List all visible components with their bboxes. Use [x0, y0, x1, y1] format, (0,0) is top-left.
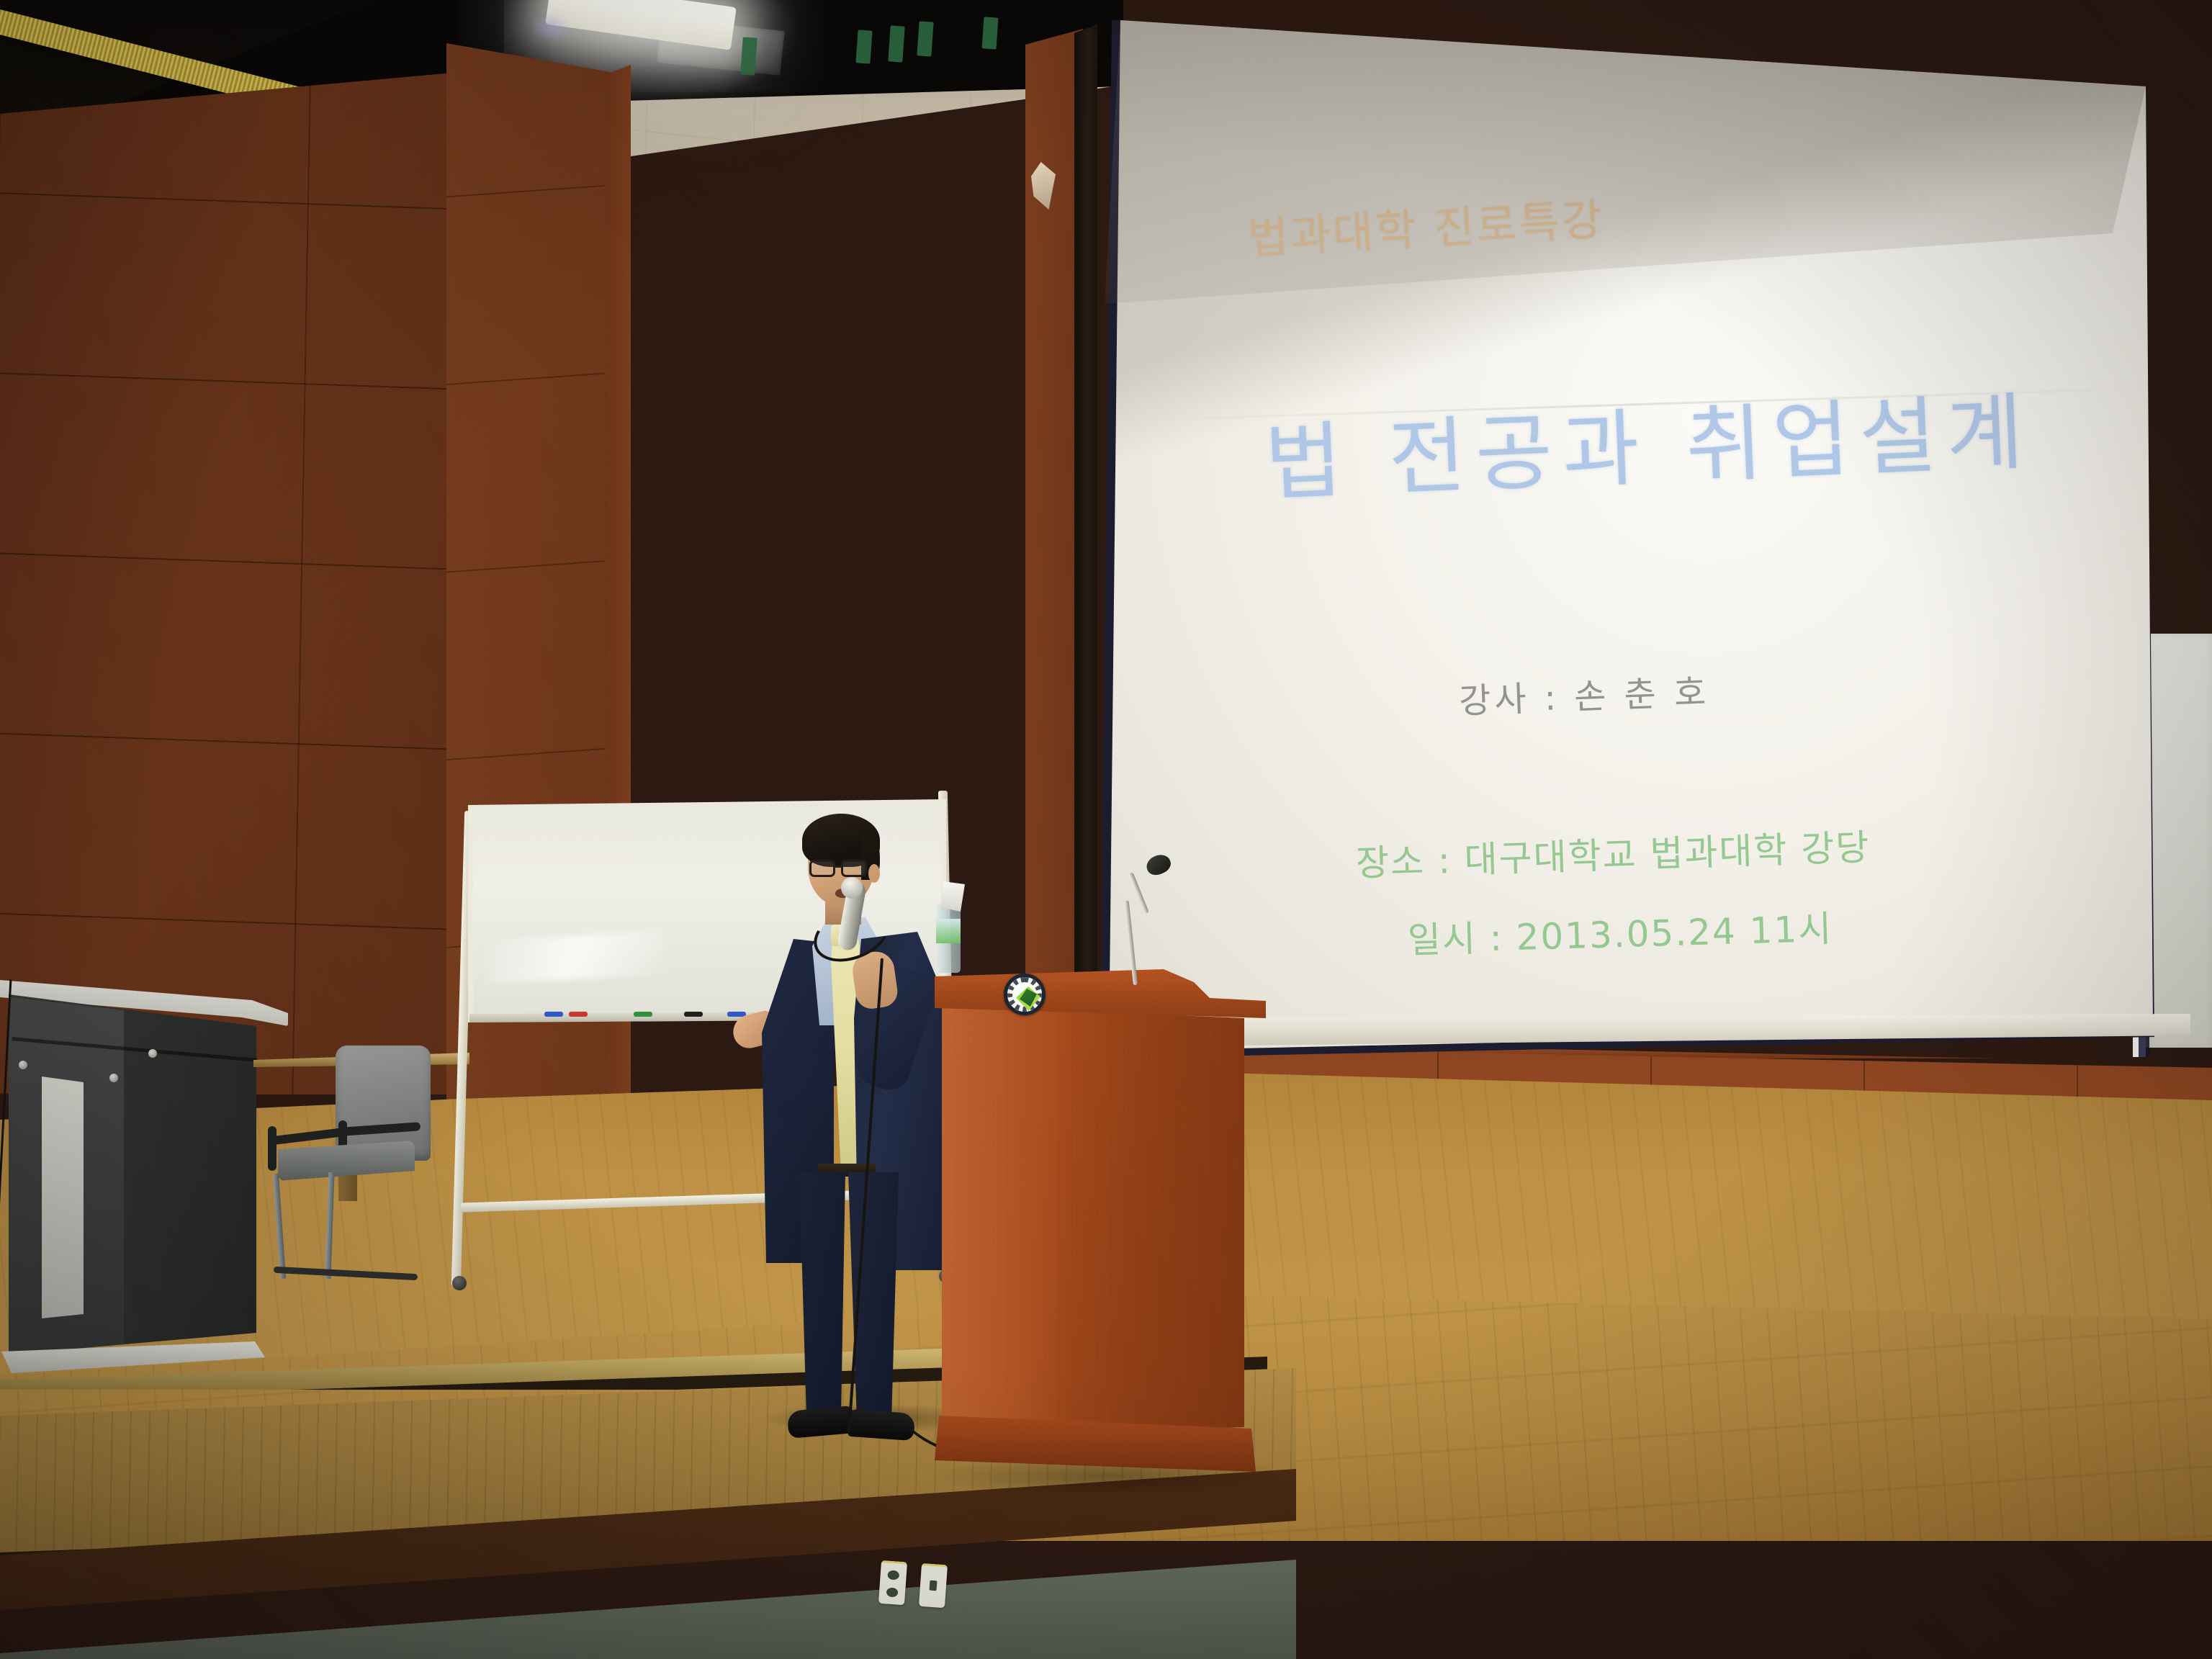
green-tape-mark [917, 21, 933, 56]
water-bottle-label [936, 919, 961, 943]
ear [868, 864, 880, 883]
lecture-hall-photo: 법과대학 진로특강 법 전공과 취업설계 강사 : 손 춘 호 장소 : 대구대… [0, 0, 2212, 1659]
presentation-slide: 법과대학 진로특강 법 전공과 취업설계 강사 : 손 춘 호 장소 : 대구대… [1080, 20, 2212, 1079]
podium-body-highlight [942, 1005, 1071, 1437]
wooden-podium[interactable] [935, 969, 1266, 1478]
whiteboard-marker[interactable] [544, 1012, 563, 1017]
green-tape-mark [855, 30, 872, 63]
eyeglasses-bridge [835, 866, 842, 868]
chair-leg [273, 1174, 286, 1279]
whiteboard-marker[interactable] [634, 1012, 652, 1017]
university-emblem [1004, 974, 1046, 1015]
outlet-socket-hole [886, 1587, 899, 1597]
outlet-socket-hole [930, 1581, 938, 1591]
whiteboard-marker[interactable] [569, 1012, 588, 1017]
wall-outlet-single[interactable] [919, 1563, 948, 1608]
slide-speaker-text: 강사 : 손 춘 호 [1295, 657, 1873, 729]
chair-leg [325, 1172, 334, 1279]
chair-arm-post [268, 1126, 276, 1171]
eyeglasses-lens-left [809, 860, 835, 877]
green-tape-mark [740, 37, 757, 75]
paper-cup[interactable] [940, 881, 965, 912]
slide-title-text: 법 전공과 취업설계 [1193, 361, 2105, 521]
trouser-leg-right [847, 1172, 903, 1421]
eyeglasses-lens-right [841, 860, 867, 877]
lectern-screw [109, 1074, 118, 1082]
green-tape-mark [981, 17, 998, 49]
whiteboard-marker[interactable] [684, 1012, 703, 1017]
trouser-leg-left [796, 1172, 848, 1417]
av-lectern[interactable] [0, 976, 288, 1379]
lectern-white-panel [42, 1076, 84, 1318]
outlet-socket-hole [887, 1570, 899, 1580]
gray-armchair[interactable] [272, 1046, 459, 1290]
whiteboard-caster [452, 1276, 467, 1290]
light-flare [528, 10, 575, 45]
lectern-screw [148, 1049, 157, 1058]
chair-foot-rail [274, 1267, 418, 1280]
slide-place-text: 장소 : 대구대학교 법과대학 강당 [1252, 815, 1974, 889]
dress-shoe-left [787, 1406, 855, 1439]
slide-datetime-text: 일시 : 2013.05.24 11시 [1259, 896, 1981, 968]
wall-panel-left [0, 72, 461, 1094]
green-tape-mark [888, 25, 904, 62]
chair-seat [278, 1141, 415, 1181]
slide-eyebrow-text: 법과대학 진로특강 [1158, 179, 1694, 271]
wall-outlet-duplex[interactable] [878, 1560, 907, 1605]
lectern-screw [19, 1061, 27, 1069]
